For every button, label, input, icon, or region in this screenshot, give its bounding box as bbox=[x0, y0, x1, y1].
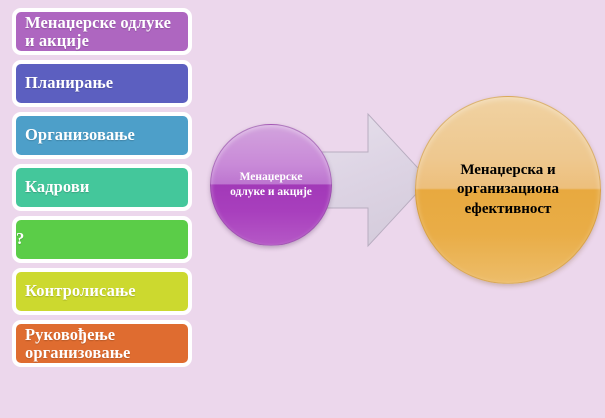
process-box-label: Планирање bbox=[25, 75, 179, 92]
process-box-list: Менаџерске одлуке и акције Планирање Орг… bbox=[12, 8, 192, 372]
target-circle-label: Менаџерска и организациона ефективност bbox=[416, 161, 600, 220]
source-circle-managerial-decisions[interactable]: Менаџерске одлуке и акције bbox=[210, 124, 332, 246]
process-box-unknown[interactable]: ? bbox=[12, 216, 192, 263]
process-box-leading[interactable]: Руковођење организовање bbox=[12, 320, 192, 367]
process-box-staffing[interactable]: Кадрови bbox=[12, 164, 192, 211]
process-box-organizing[interactable]: Организовање bbox=[12, 112, 192, 159]
process-box-label: Кадрови bbox=[25, 179, 179, 196]
process-box-label: Руковођење организовање bbox=[25, 326, 179, 360]
diagram-canvas: Менаџерске одлуке и акције Планирање Орг… bbox=[0, 0, 605, 418]
target-circle-effectiveness[interactable]: Менаџерска и организациона ефективност bbox=[415, 96, 601, 284]
process-box-label: Организовање bbox=[25, 127, 179, 144]
process-box-controlling[interactable]: Контролисање bbox=[12, 268, 192, 315]
process-box-planning[interactable]: Планирање bbox=[12, 60, 192, 107]
source-circle-label: Менаџерске одлуке и акције bbox=[211, 170, 331, 199]
process-box-label: Менаџерске одлуке и акције bbox=[25, 14, 179, 48]
process-box-label: Контролисање bbox=[25, 283, 179, 300]
process-box-managerial-decisions[interactable]: Менаџерске одлуке и акције bbox=[12, 8, 192, 55]
process-box-label: ? bbox=[16, 231, 188, 248]
